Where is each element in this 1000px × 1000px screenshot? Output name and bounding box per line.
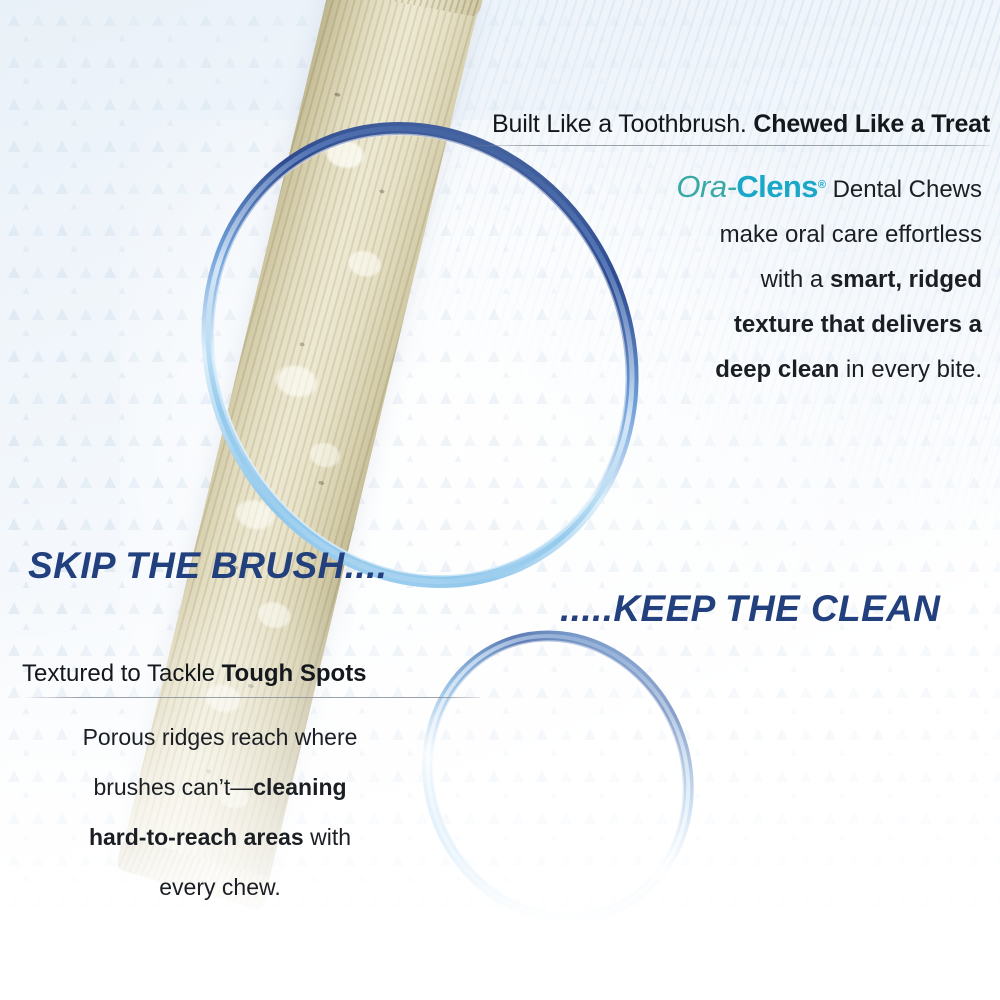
top-body-line-5-bold: deep clean <box>715 356 839 383</box>
bottom-body-line-1: Porous ridges reach where <box>10 712 430 762</box>
bottom-headline-bold: Tough Spots <box>222 660 367 687</box>
chew-stick-top-end <box>328 0 486 17</box>
bottom-headline-regular: Textured to Tackle <box>22 660 222 687</box>
bottom-panel-headline: Textured to Tackle Tough Spots <box>22 660 452 688</box>
top-headline-regular: Built Like a Toothbrush. <box>492 110 747 138</box>
top-body-line-2: make oral care effortless <box>382 212 982 257</box>
bottom-panel-divider <box>22 697 480 698</box>
top-body-line-1-rest: Dental Chews <box>826 176 982 203</box>
promo-image-canvas: Built Like a Toothbrush. Chewed Like a T… <box>0 0 1000 1000</box>
slogan-keep-the-clean: .....KEEP THE CLEAN <box>560 588 940 630</box>
top-panel-divider <box>466 145 990 146</box>
top-body-line-4: texture that delivers a <box>382 302 982 347</box>
brand-logo-clens: Clens <box>736 169 817 204</box>
bottom-body-line-2: brushes can’t—cleaning <box>10 762 430 812</box>
top-headline-bold: Chewed Like a Treat <box>747 110 990 138</box>
top-panel-headline: Built Like a Toothbrush. Chewed Like a T… <box>430 110 990 139</box>
bottom-body-line-3: hard-to-reach areas with <box>10 812 430 862</box>
top-body-line-5: deep clean in every bite. <box>382 347 982 392</box>
top-body-line-3-regular: with a <box>761 266 830 293</box>
bottom-body-line-2-bold: cleaning <box>253 774 346 800</box>
slogan-skip-the-brush: SKIP THE BRUSH.... <box>28 545 387 587</box>
top-body-line-3-bold: smart, ridged <box>830 266 982 293</box>
top-body-line-1: Ora-Clens® Dental Chews <box>382 163 982 212</box>
top-body-line-5-regular: in every bite. <box>839 356 982 383</box>
top-panel-body: Ora-Clens® Dental Chews make oral care e… <box>382 163 982 392</box>
bottom-body-line-3-bold: hard-to-reach areas <box>89 824 304 850</box>
bottom-body-line-3-regular: with <box>304 824 351 850</box>
bottom-body-line-4: every chew. <box>10 862 430 912</box>
bottom-body-line-2-regular: brushes can’t— <box>93 774 253 800</box>
brand-registered-mark: ® <box>818 179 826 191</box>
brand-logo-ora: Ora- <box>676 169 736 204</box>
top-body-line-3: with a smart, ridged <box>382 257 982 302</box>
bottom-panel-body: Porous ridges reach where brushes can’t—… <box>10 712 430 912</box>
